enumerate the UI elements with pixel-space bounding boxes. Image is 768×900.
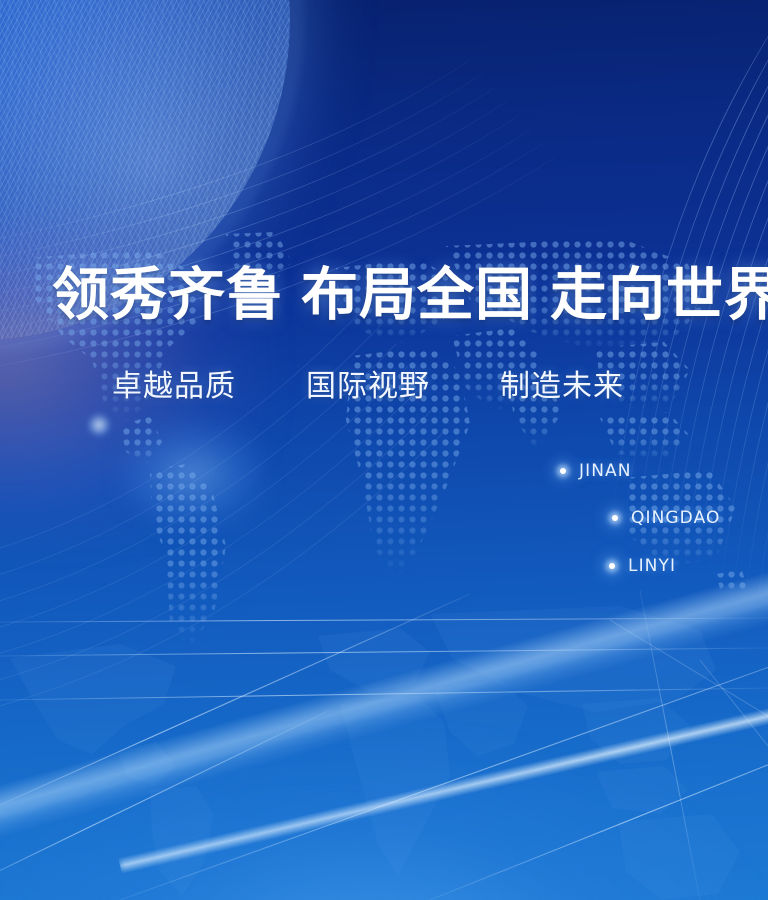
city-label-jinan: JINAN xyxy=(579,461,632,481)
headline-part-2: 布局全国 xyxy=(301,261,533,328)
location-dot-icon xyxy=(612,515,618,521)
headline-part-3: 走向世界 xyxy=(550,261,768,328)
city-marker-jinan[interactable]: JINAN xyxy=(560,461,632,481)
subheadline-part-2: 国际视野 xyxy=(306,369,430,404)
location-dot-icon xyxy=(560,468,566,474)
banner-headline: 领秀齐鲁布局全国走向世界 xyxy=(52,266,768,323)
banner-content: 领秀齐鲁布局全国走向世界 卓越品质国际视野制造未来 JINAN QINGDAO … xyxy=(0,0,768,900)
city-label-linyi: LINYI xyxy=(628,556,676,576)
city-marker-qingdao[interactable]: QINGDAO xyxy=(612,508,721,528)
city-label-qingdao: QINGDAO xyxy=(631,508,721,528)
headline-part-1: 领秀齐鲁 xyxy=(52,261,284,328)
banner-subheadline: 卓越品质国际视野制造未来 xyxy=(112,372,624,402)
location-dot-icon xyxy=(609,563,615,569)
hero-banner: 领秀齐鲁布局全国走向世界 卓越品质国际视野制造未来 JINAN QINGDAO … xyxy=(0,0,768,900)
subheadline-part-1: 卓越品质 xyxy=(112,369,236,404)
subheadline-part-3: 制造未来 xyxy=(500,369,624,404)
city-marker-linyi[interactable]: LINYI xyxy=(609,556,676,576)
